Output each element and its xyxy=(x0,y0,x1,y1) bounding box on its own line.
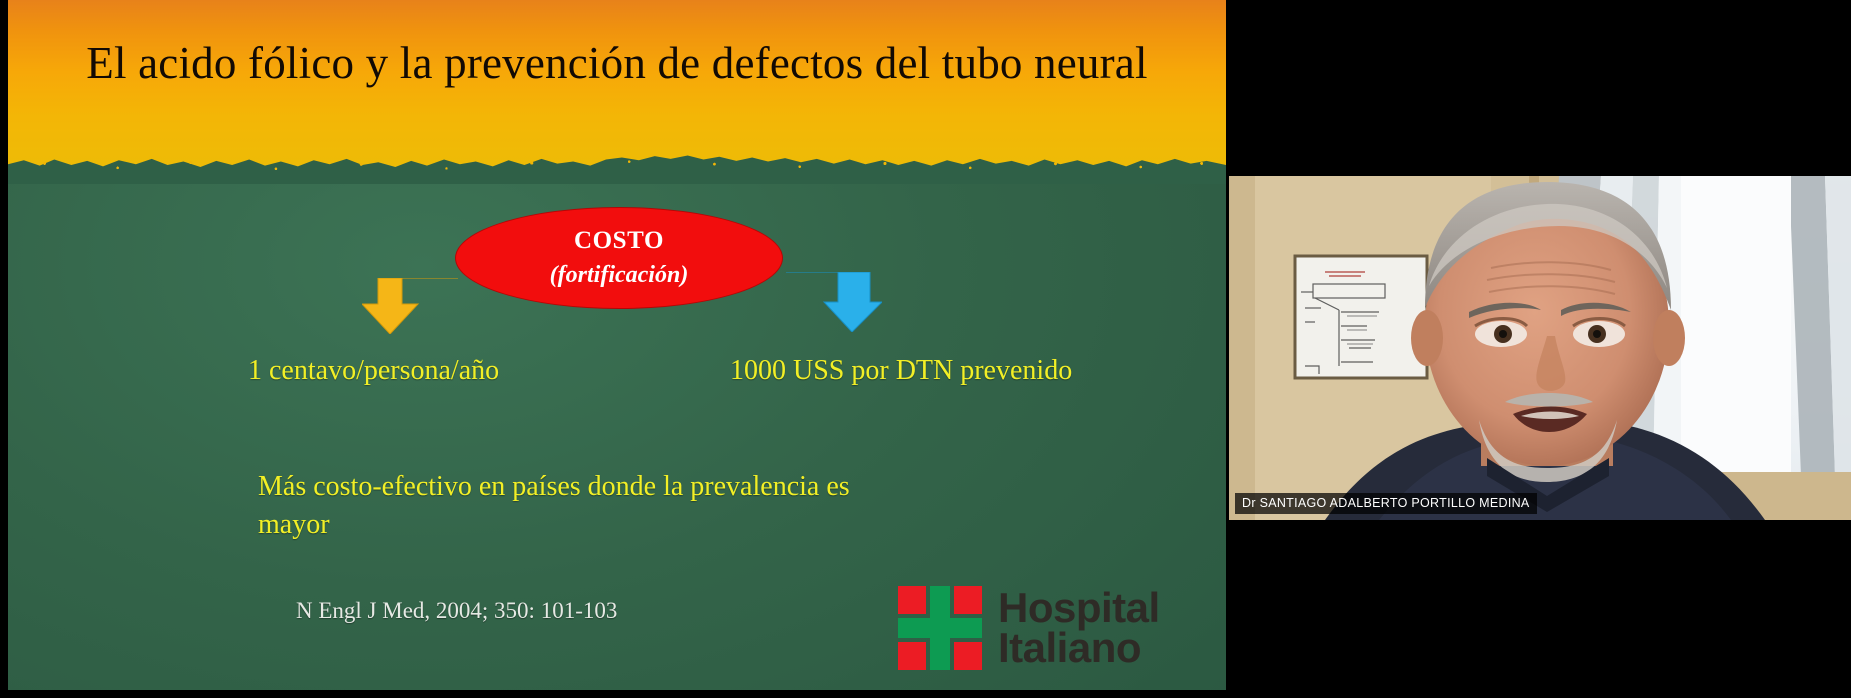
hospital-cross-icon xyxy=(898,586,982,670)
logo-line-2: Italiano xyxy=(998,628,1160,668)
conclusion-paragraph: Más costo-efectivo en países donde la pr… xyxy=(258,468,878,544)
slide-title: El acido fólico y la prevención de defec… xyxy=(68,38,1166,88)
label-cost-per-ntd: 1000 USS por DTN prevenido xyxy=(730,352,1072,390)
right-elbow-arrow xyxy=(786,272,882,332)
oval-line-1: COSTO xyxy=(574,227,664,255)
citation-reference: N Engl J Med, 2004; 350: 101-103 xyxy=(296,598,617,624)
label-cost-per-person: 1 centavo/persona/año xyxy=(248,352,499,390)
webcam-video-frame xyxy=(1229,176,1851,520)
cost-oval: COSTO (fortificación) xyxy=(456,208,782,308)
logo-line-1: Hospital xyxy=(998,588,1160,628)
presentation-slide: El acido fólico y la prevención de defec… xyxy=(8,0,1226,690)
participant-name-label: Dr SANTIAGO ADALBERTO PORTILLO MEDINA xyxy=(1235,493,1537,514)
left-elbow-arrow xyxy=(362,278,458,334)
participant-video-tile[interactable]: Dr SANTIAGO ADALBERTO PORTILLO MEDINA xyxy=(1229,176,1851,520)
oval-line-2: (fortificación) xyxy=(550,262,689,289)
hospital-italiano-logo: Hospital Italiano xyxy=(898,586,1160,670)
screen: El acido fólico y la prevención de defec… xyxy=(0,0,1851,698)
